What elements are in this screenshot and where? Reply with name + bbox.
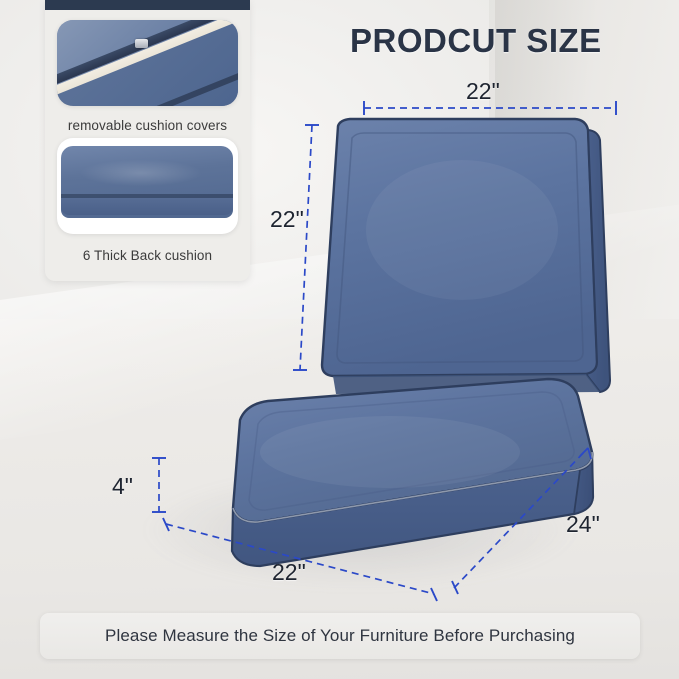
inset-panel-topbar xyxy=(45,0,250,10)
zipper-pull-icon xyxy=(135,39,148,48)
back-cushion-sheen xyxy=(366,160,558,300)
back-cushion-bottom-edge xyxy=(333,374,600,394)
dim-label-seat-depth: 24" xyxy=(566,511,600,538)
feature-caption-thick-back-cushion: 6 Thick Back cushion xyxy=(45,248,250,263)
dim-label-seat-width: 22" xyxy=(272,559,306,586)
feature-inset-panel: removable cushion covers 6 Thick Back cu… xyxy=(45,0,250,281)
back-cushion-highlight xyxy=(81,160,201,186)
seat-cushion-side xyxy=(574,396,593,514)
dim-label-back-width: 22" xyxy=(466,78,500,105)
measure-notice-text: Please Measure the Size of Your Furnitur… xyxy=(105,626,575,646)
back-cushion-lip xyxy=(61,198,233,215)
back-cushion-face xyxy=(322,119,597,376)
back-cushion-side xyxy=(586,130,610,392)
zipper-closeup-photo xyxy=(57,20,238,106)
product-size-infographic: 22" 22" 4" 22" 24" PRODCUT SIZE removabl… xyxy=(0,0,679,679)
seat-cushion-sheen xyxy=(260,416,520,488)
seat-cushion-top-seam xyxy=(249,392,574,510)
back-cushion-inner-seam xyxy=(337,133,583,363)
dim-label-back-height: 22" xyxy=(270,206,304,233)
seat-cushion-top xyxy=(233,379,592,522)
dim-label-seat-thickness: 4" xyxy=(112,473,133,500)
measure-notice-banner: Please Measure the Size of Your Furnitur… xyxy=(40,613,640,659)
seat-cushion-front-piping xyxy=(233,452,592,522)
page-title: PRODCUT SIZE xyxy=(350,22,602,60)
seat-cushion-front xyxy=(232,452,593,566)
feature-caption-removable-covers: removable cushion covers xyxy=(45,118,250,133)
back-cushion-photo xyxy=(57,138,238,234)
